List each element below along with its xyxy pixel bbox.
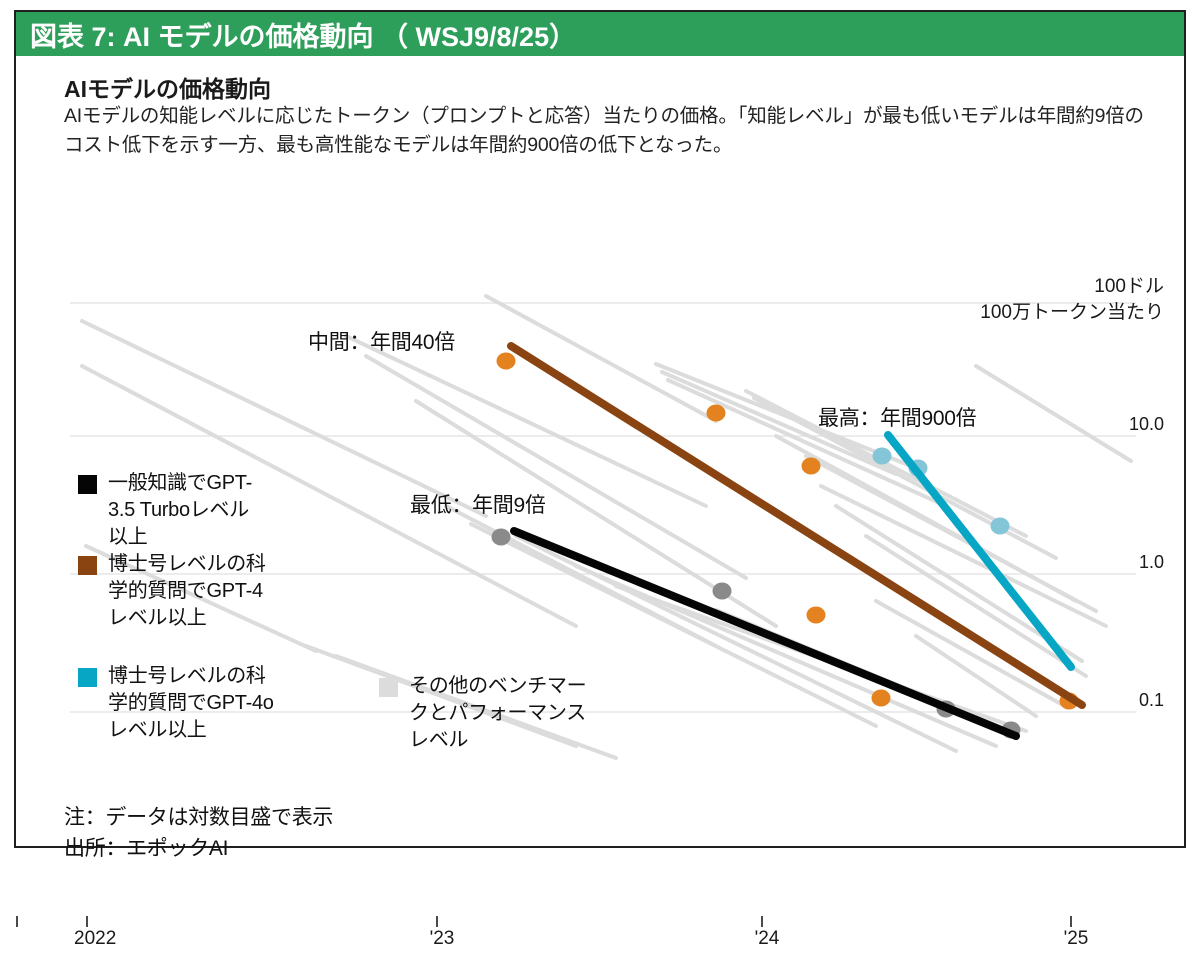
x-tick-label-24: '24	[755, 928, 780, 950]
footnote-source: 出所：エポックAI	[64, 833, 333, 864]
plot-area: 100ドル 100万トークン当たり 10.0 1.0 0.1 中間：年間40倍 …	[16, 206, 1188, 766]
x-tick-23-hidden	[16, 916, 18, 927]
x-tick-24	[761, 916, 763, 927]
figure-header-bar: 図表 7: AI モデルの価格動向 （ WSJ9/8/25）	[16, 12, 1184, 56]
x-tick-2022	[86, 916, 88, 927]
legend-label-gpt4: 博士号レベルの科 学的質問でGPT-4 レベル以上	[108, 551, 266, 632]
legend-item-gpt35[interactable]: 一般知識でGPT- 3.5 Turboレベル 以上	[78, 470, 252, 551]
legend-swatch-cyan	[78, 668, 97, 687]
x-axis: 2022 '23 '24 '25	[16, 916, 1188, 960]
x-tick-25	[1070, 916, 1072, 927]
legend-item-gpt4o[interactable]: 博士号レベルの科 学的質問でGPT-4o レベル以上	[78, 663, 274, 744]
legend-swatch-black	[78, 475, 97, 494]
x-tick-label-25: '25	[1064, 928, 1089, 950]
x-tick-23	[436, 916, 438, 927]
legend-swatch-gray	[379, 678, 398, 697]
chart-title: AIモデルの価格動向	[64, 70, 271, 104]
legend-item-gpt4[interactable]: 博士号レベルの科 学的質問でGPT-4 レベル以上	[78, 551, 266, 632]
legend-label-gpt4o: 博士号レベルの科 学的質問でGPT-4o レベル以上	[108, 663, 274, 744]
x-tick-label-2022: 2022	[74, 928, 116, 950]
legend-label-other: その他のベンチマー クとパフォーマンス レベル	[409, 673, 586, 754]
legend-item-other[interactable]: その他のベンチマー クとパフォーマンス レベル	[379, 673, 586, 754]
legend-swatch-brown	[78, 556, 97, 575]
figure-card: 図表 7: AI モデルの価格動向 （ WSJ9/8/25） AIモデルの価格動…	[14, 10, 1186, 848]
footnotes: 注：データは対数目盛で表示 出所：エポックAI	[64, 802, 333, 864]
footnote-note: 注：データは対数目盛で表示	[64, 802, 333, 833]
chart-subtitle: AIモデルの知能レベルに応じたトークン（プロンプトと応答）当たりの価格。「知能レ…	[64, 102, 1156, 160]
figure-body: AIモデルの価格動向 AIモデルの知能レベルに応じたトークン（プロンプトと応答）…	[16, 56, 1184, 848]
chart-legend: 一般知識でGPT- 3.5 Turboレベル 以上 博士号レベルの科 学的質問で…	[16, 206, 1188, 766]
x-tick-label-23: '23	[430, 928, 455, 950]
legend-label-gpt35: 一般知識でGPT- 3.5 Turboレベル 以上	[108, 470, 252, 551]
figure-header-title: 図表 7: AI モデルの価格動向 （ WSJ9/8/25）	[16, 15, 576, 54]
